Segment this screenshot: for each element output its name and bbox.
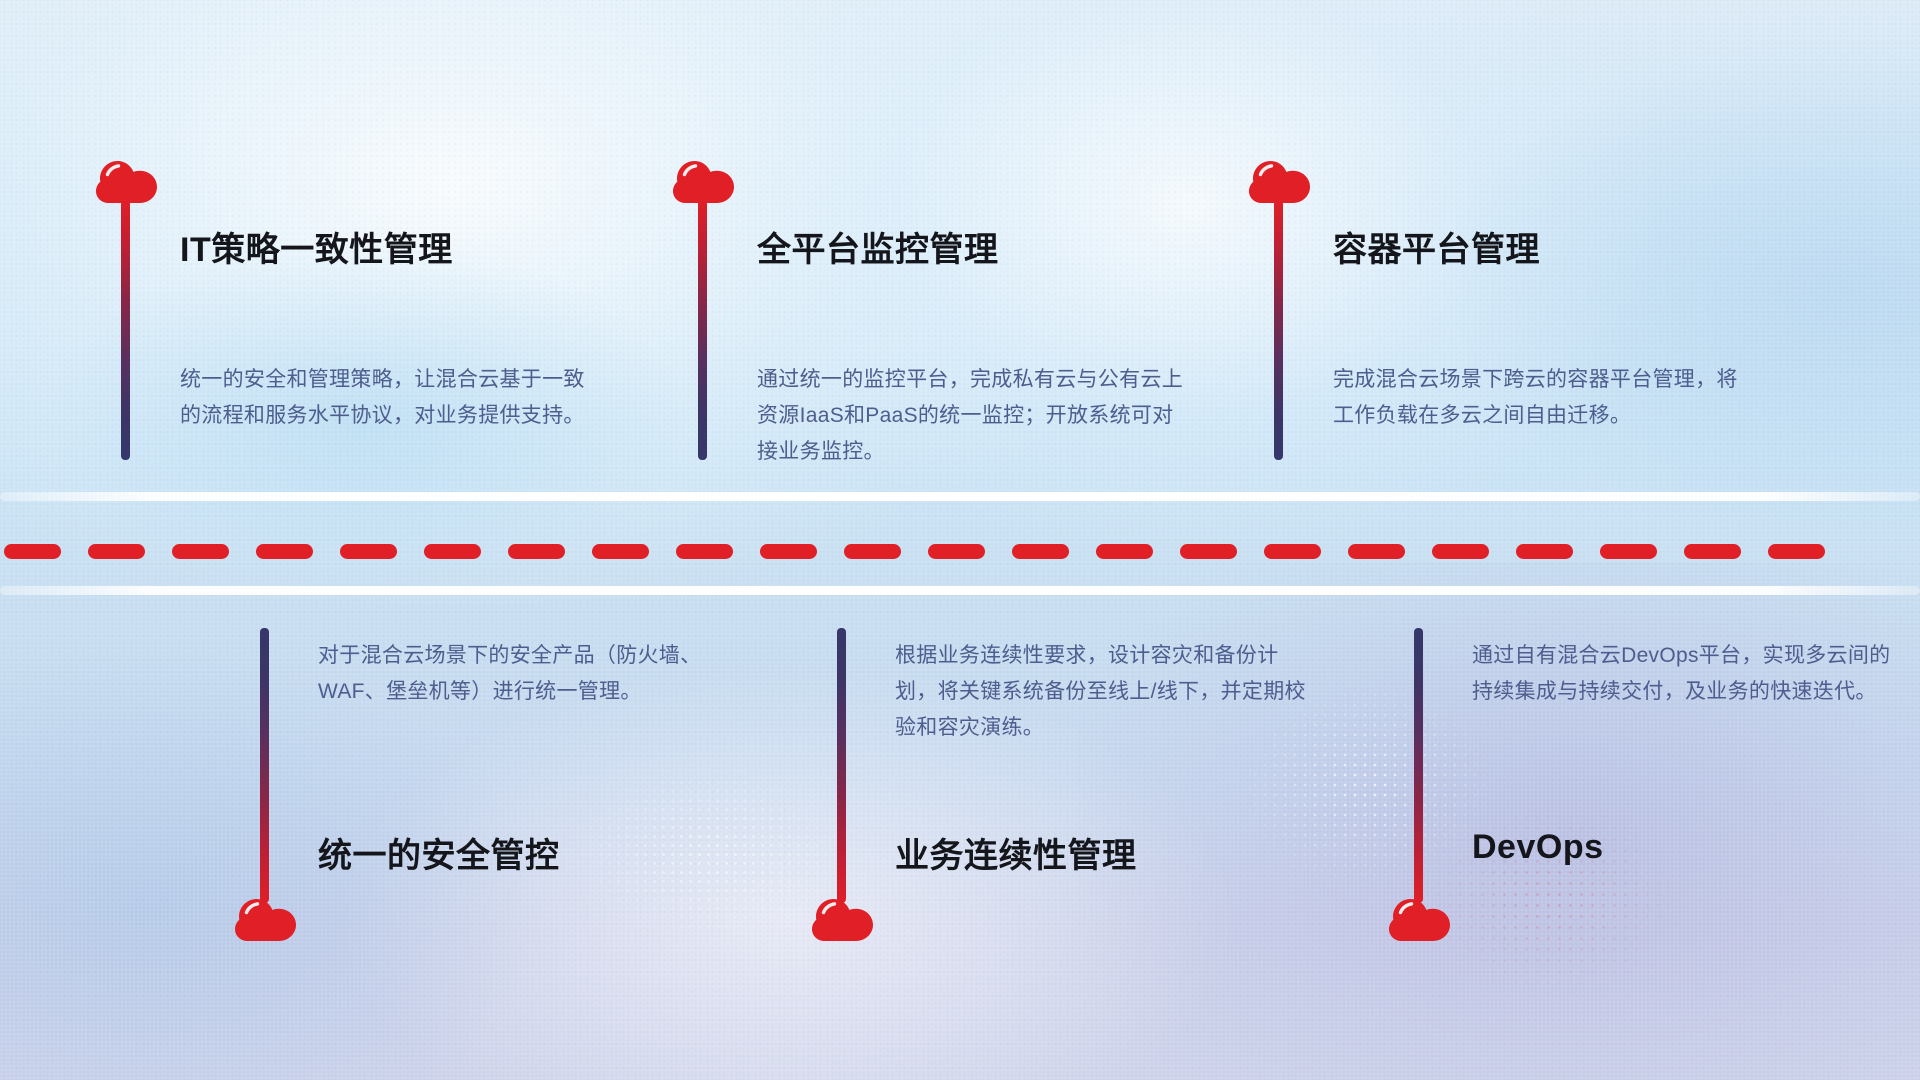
divider-dash: [256, 544, 313, 559]
top-item-2-body: 通过统一的监控平台，完成私有云与公有云上资源IaaS和PaaS的统一监控；开放系…: [757, 362, 1187, 470]
divider-dash: [1516, 544, 1573, 559]
divider-dash: [1432, 544, 1489, 559]
bottom-item-2-body: 根据业务连续性要求，设计容灾和备份计划，将关键系统备份至线上/线下，并定期校验和…: [895, 638, 1315, 746]
divider-dash: [172, 544, 229, 559]
divider-dash: [1012, 544, 1069, 559]
divider-dash: [760, 544, 817, 559]
divider-dash: [928, 544, 985, 559]
divider-dash: [1264, 544, 1321, 559]
top-item-1-body: 统一的安全和管理策略，让混合云基于一致的流程和服务水平协议，对业务提供支持。: [180, 362, 600, 434]
divider-dash: [844, 544, 901, 559]
connector-stem: [1274, 200, 1283, 460]
cloud-icon: [673, 160, 735, 204]
divider-dash: [508, 544, 565, 559]
connector-stem: [121, 200, 130, 460]
cloud-icon: [235, 898, 297, 942]
top-item-1-title: IT策略一致性管理: [180, 222, 453, 271]
divider-rail-bottom: [0, 586, 1920, 595]
divider-dash: [88, 544, 145, 559]
divider-dashed-line: [0, 543, 1920, 559]
divider-dash: [424, 544, 481, 559]
connector-stem: [698, 200, 707, 460]
divider-rail-top: [0, 492, 1920, 501]
divider-dash: [1684, 544, 1741, 559]
divider-dash: [1096, 544, 1153, 559]
top-item-3-body: 完成混合云场景下跨云的容器平台管理，将工作负载在多云之间自由迁移。: [1333, 362, 1753, 434]
divider-dash: [340, 544, 397, 559]
infographic-canvas: IT策略一致性管理 统一的安全和管理策略，让混合云基于一致的流程和服务水平协议，…: [0, 0, 1920, 1080]
bottom-item-1-title: 统一的安全管控: [318, 828, 560, 877]
bottom-item-3-title: DevOps: [1472, 828, 1604, 867]
divider-dash: [4, 544, 61, 559]
divider-dash: [1348, 544, 1405, 559]
cloud-icon: [812, 898, 874, 942]
bottom-item-3-body: 通过自有混合云DevOps平台，实现多云间的持续集成与持续交付，及业务的快速迭代…: [1472, 638, 1892, 710]
connector-stem: [837, 628, 846, 903]
divider-dash: [592, 544, 649, 559]
divider-dash: [1180, 544, 1237, 559]
divider-dash: [676, 544, 733, 559]
bottom-item-1-body: 对于混合云场景下的安全产品（防火墙、WAF、堡垒机等）进行统一管理。: [318, 638, 738, 710]
bottom-item-2-title: 业务连续性管理: [895, 828, 1137, 877]
connector-stem: [1414, 628, 1423, 903]
top-item-2-title: 全平台监控管理: [757, 222, 999, 271]
connector-stem: [260, 628, 269, 903]
divider-dash: [1600, 544, 1657, 559]
divider-dash: [1768, 544, 1825, 559]
cloud-icon: [96, 160, 158, 204]
cloud-icon: [1389, 898, 1451, 942]
top-item-3-title: 容器平台管理: [1333, 222, 1540, 271]
cloud-icon: [1249, 160, 1311, 204]
